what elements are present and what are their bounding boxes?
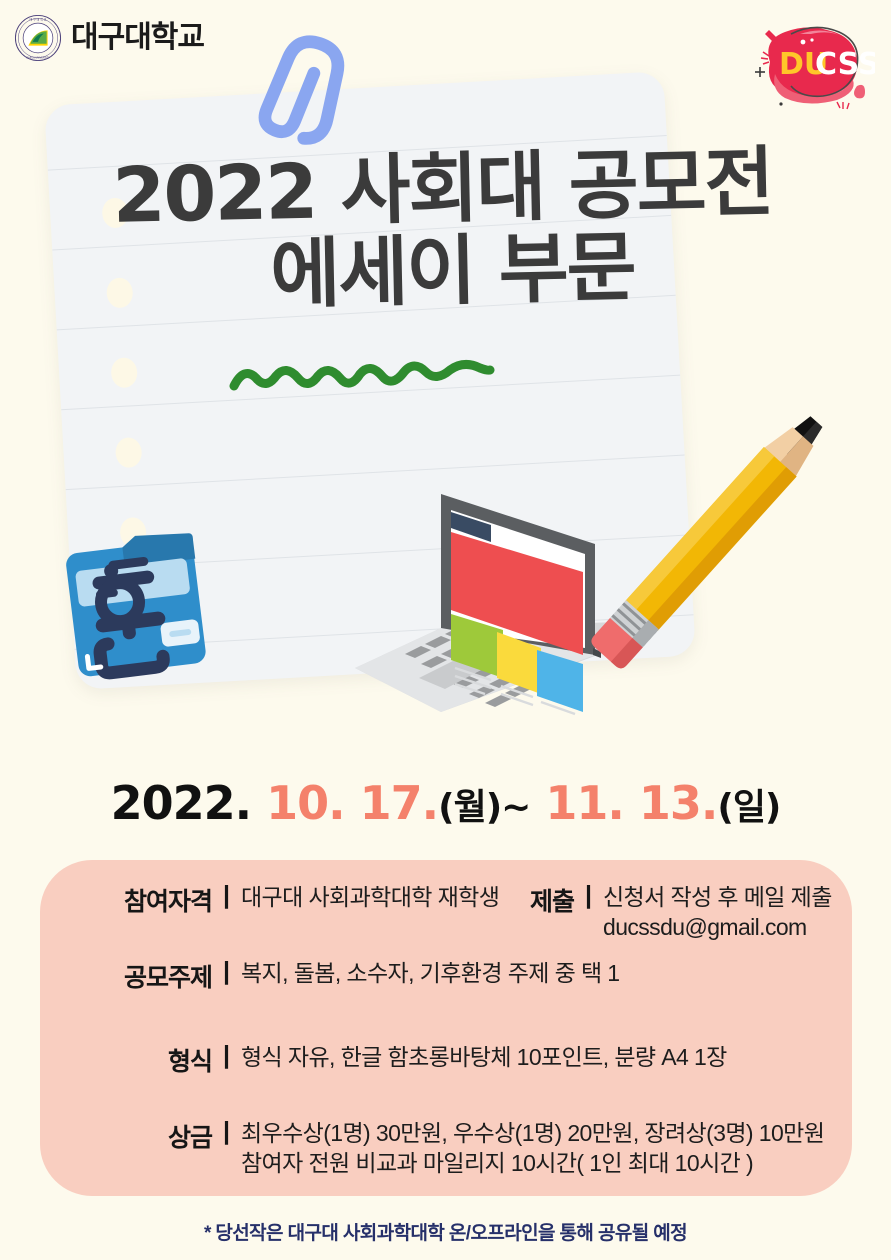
- info-separator: |: [223, 882, 230, 908]
- date-end: 11. 13.: [545, 776, 717, 830]
- date-end-weekday: (일): [717, 787, 780, 828]
- info-value-format: 형식 자유, 한글 함초롱바탕체 10포인트, 분량 A4 1장: [241, 1042, 727, 1072]
- info-label-topic: 공모주제: [88, 958, 212, 994]
- info-value-topic: 복지, 돌봄, 소수자, 기후환경 주제 중 택 1: [241, 958, 620, 988]
- info-separator: |: [223, 958, 230, 984]
- hun-badge-card-icon: [58, 528, 218, 690]
- info-value-eligibility: 대구대 사회과학대학 재학생: [241, 882, 499, 912]
- ducss-blob-logo[interactable]: DU CSS: [745, 8, 875, 118]
- info-label-format: 형식: [88, 1042, 212, 1078]
- university-brand: 대 구 대 학 교 DAEGU UNIVERSITY 대구대학교: [14, 14, 204, 62]
- info-row-submission: 제출 | 신청서 작성 후 메일 제출 ducssdu@gmail.com: [510, 882, 832, 943]
- info-table: 참여자격 | 대구대 사회과학대학 재학생 제출 | 신청서 작성 후 메일 제…: [40, 860, 852, 1196]
- title-line-2: 에세이 부문: [13, 221, 891, 321]
- info-value-prize-line1: 최우수상(1명) 30만원, 우수상(1명) 20만원, 장려상(3명) 10만…: [241, 1118, 824, 1148]
- info-label-eligibility: 참여자격: [88, 882, 212, 918]
- ducss-logo-css: CSS: [815, 47, 875, 82]
- footer-note: * 당선작은 대구대 사회과학대학 온/오프라인을 통해 공유될 예정: [0, 1218, 891, 1245]
- svg-text:DAEGU UNIVERSITY: DAEGU UNIVERSITY: [26, 57, 50, 60]
- submission-email[interactable]: ducssdu@gmail.com: [603, 912, 832, 942]
- info-row-topic: 공모주제 | 복지, 돌봄, 소수자, 기후환경 주제 중 택 1: [88, 958, 620, 994]
- info-box: 참여자격 | 대구대 사회과학대학 재학생 제출 | 신청서 작성 후 메일 제…: [40, 860, 852, 1196]
- info-separator: |: [223, 1118, 230, 1144]
- info-value-submission-line1: 신청서 작성 후 메일 제출: [603, 882, 832, 912]
- svg-text:대 구 대 학 교: 대 구 대 학 교: [30, 17, 47, 22]
- info-label-prize: 상금: [88, 1118, 212, 1154]
- date-start: 10. 17.: [266, 776, 438, 830]
- info-separator: |: [585, 882, 592, 908]
- event-date: 2022. 10. 17.(월)~ 11. 13.(일): [0, 776, 891, 830]
- date-start-weekday: (월)~: [438, 787, 530, 828]
- poster-root: 대 구 대 학 교 DAEGU UNIVERSITY 대구대학교 DU CSS: [0, 0, 891, 1260]
- info-row-format: 형식 | 형식 자유, 한글 함초롱바탕체 10포인트, 분량 A4 1장: [88, 1042, 727, 1078]
- green-squiggle-underline: [228, 352, 496, 400]
- university-seal-icon: 대 구 대 학 교 DAEGU UNIVERSITY: [14, 14, 62, 62]
- poster-title: 2022 사회대 공모전 에세이 부문: [0, 148, 891, 312]
- info-separator: |: [223, 1042, 230, 1068]
- date-year: 2022.: [111, 776, 252, 830]
- info-row-prize: 상금 | 최우수상(1명) 30만원, 우수상(1명) 20만원, 장려상(3명…: [88, 1118, 824, 1179]
- info-row-eligibility: 참여자격 | 대구대 사회과학대학 재학생: [88, 882, 499, 918]
- pencil-icon: [548, 372, 868, 712]
- info-label-submission: 제출: [510, 882, 574, 918]
- university-name: 대구대학교: [71, 23, 204, 53]
- info-value-prize-line2: 참여자 전원 비교과 마일리지 10시간( 1인 최대 10시간 ): [241, 1148, 824, 1178]
